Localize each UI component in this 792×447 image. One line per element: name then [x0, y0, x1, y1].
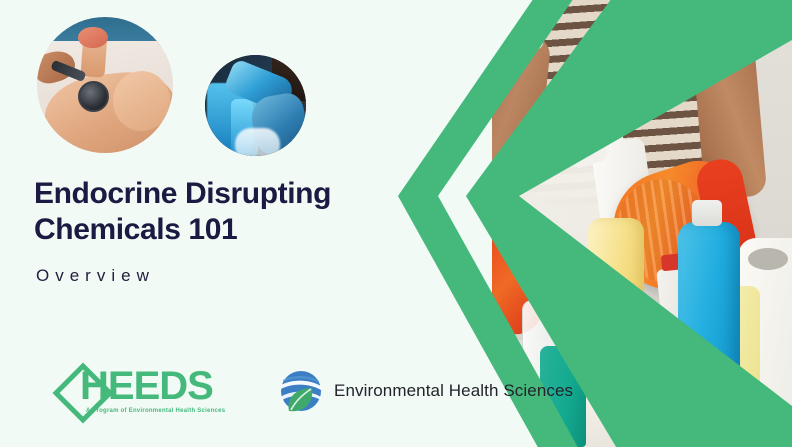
- baby-fist: [78, 27, 108, 49]
- lab-highlight: [235, 128, 279, 156]
- ehs-wordmark: Environmental Health Sciences: [334, 381, 573, 401]
- page-subtitle: Overview: [36, 266, 155, 286]
- heeds-tagline: A Program of Environmental Health Scienc…: [86, 408, 225, 414]
- heeds-logo: HEEDS A Program of Environmental Health …: [52, 362, 252, 430]
- blue-bottle: [678, 222, 740, 434]
- page-title: Endocrine Disrupting Chemicals 101: [34, 176, 434, 248]
- stethoscope-diaphragm: [78, 81, 109, 112]
- ehs-globe-leaf-icon: [278, 368, 324, 414]
- baby-stethoscope-photo: [37, 17, 173, 153]
- ehs-logo: Environmental Health Sciences: [278, 366, 573, 416]
- laboratory-photo: [205, 55, 306, 156]
- presentation-slide: Endocrine Disrupting Chemicals 101 Overv…: [0, 0, 792, 447]
- heeds-wordmark: HEEDS: [80, 366, 213, 406]
